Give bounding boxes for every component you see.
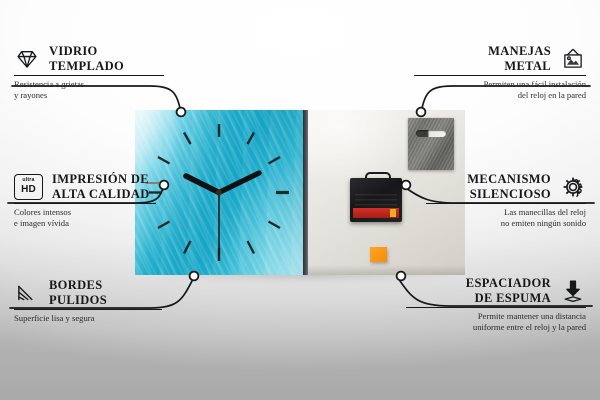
clock-front-face [135,110,303,275]
picture-hanger-icon [560,46,586,72]
callout-description: Superficie lisa y segura [14,313,162,324]
callout-title: MANEJAS METAL [488,44,551,73]
ultra-hd-badge-icon: ultra HD [14,174,43,200]
clock-minute-hand [219,173,259,193]
callout-title: IMPRESIÓN DE ALTA CALIDAD [52,172,150,201]
clock-center-cap [216,190,222,196]
callout-description: Colores intensos e imagen vívida [14,207,156,228]
callout-title: MECANISMO SILENCIOSO [467,172,551,201]
callout-description: Las manecillas del reloj no emiten ningú… [426,207,586,228]
infographic-canvas: VIDRIO TEMPLADO Resistencia a grietas y … [0,0,600,400]
callout-espaciador-espuma: ESPACIADOR DE ESPUMA Permite mantener un… [406,276,586,332]
callout-vidrio-templado: VIDRIO TEMPLADO Resistencia a grietas y … [14,44,164,100]
quartz-mechanism [350,172,402,222]
callout-description: Permiten una fácil instalación del reloj… [414,79,586,100]
product-image [135,110,465,275]
battery-compartment [353,208,399,218]
callout-divider [426,203,586,204]
callout-divider [414,75,586,76]
ultra-hd-badge-top-label: ultra [22,178,34,183]
diamond-icon [14,46,40,72]
down-arrow-layer-icon [560,278,586,304]
callout-divider [14,203,156,204]
callout-title: ESPACIADOR DE ESPUMA [466,276,551,305]
callout-description: Permite mantener una distancia uniforme … [406,311,586,332]
foam-spacer [370,247,387,262]
callout-manejas-metal: MANEJAS METAL Permiten una fácil instala… [414,44,586,100]
callout-mecanismo-silencioso: MECANISMO SILENCIOSO [426,172,586,228]
callout-divider [406,307,586,308]
callout-divider [14,309,162,310]
polished-edges-icon [14,280,40,306]
callout-divider [14,75,164,76]
clock-dial [135,110,303,275]
hanger-keyhole-slot [416,130,446,137]
callout-bordes-pulidos: BORDES PULIDOS Superficie lisa y segura [14,278,162,324]
callout-description: Resistencia a grietas y rayones [14,79,164,100]
clock-hour-hand [186,176,219,193]
ultra-hd-badge-main-label: HD [21,185,36,195]
callout-title: BORDES PULIDOS [49,278,107,307]
callout-title: VIDRIO TEMPLADO [49,44,124,73]
gear-icon [560,174,586,200]
callout-impresion-alta-calidad: ultra HD IMPRESIÓN DE ALTA CALIDAD Color… [14,172,156,228]
metal-hanger-plate [408,118,454,170]
